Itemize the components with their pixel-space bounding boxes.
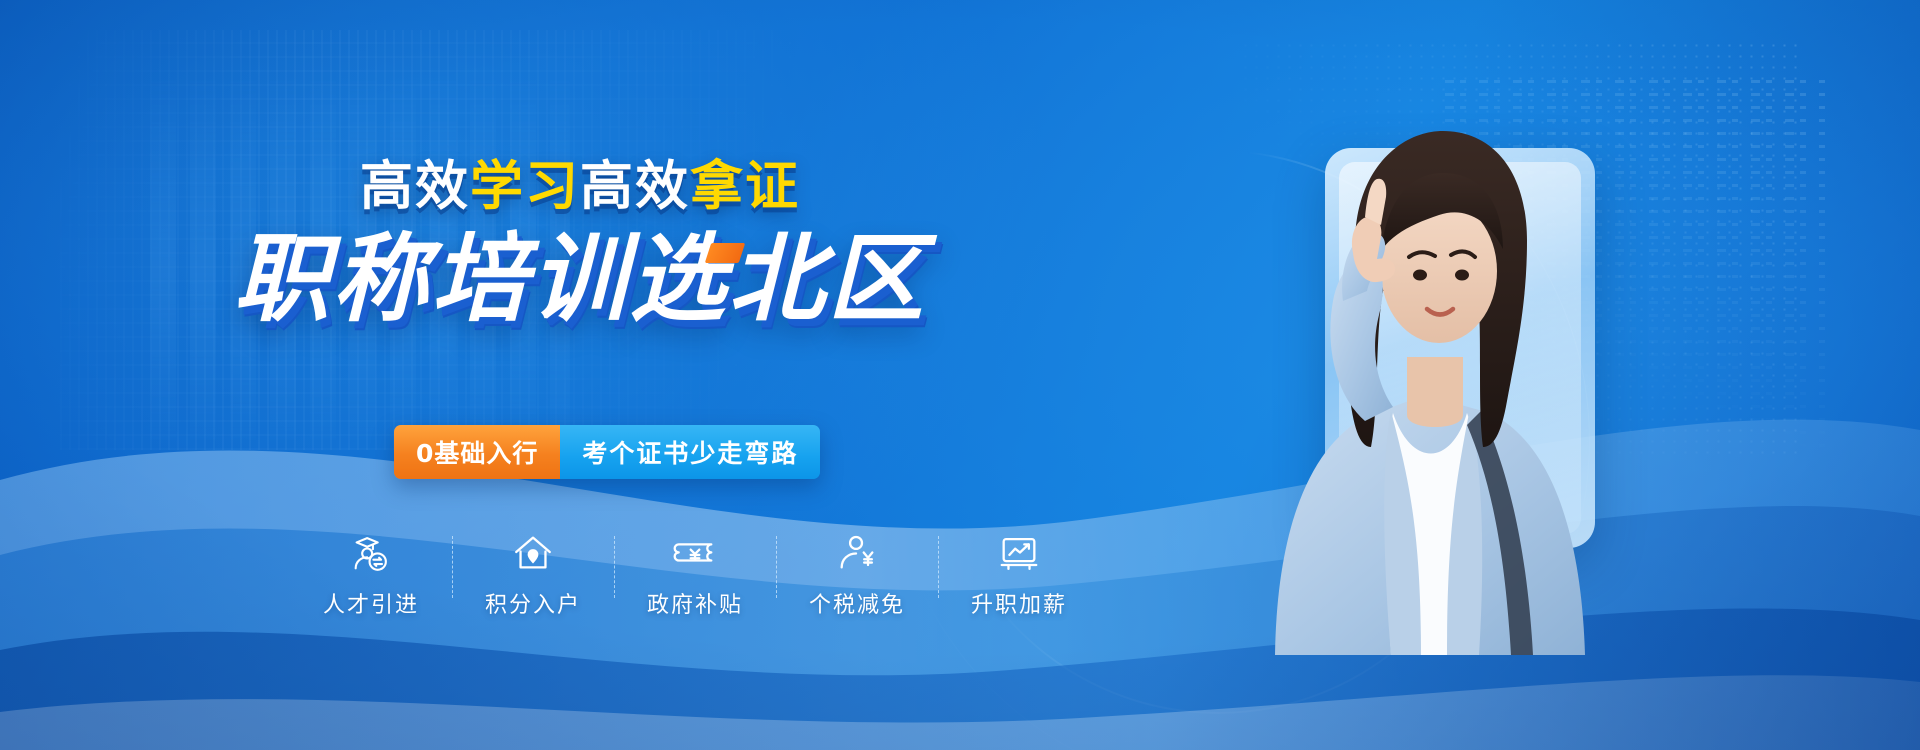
badge-right-label: 考个证书少走弯路 (560, 425, 820, 479)
presenter-photo (1215, 95, 1645, 655)
headline-top-seg-2: 学习 (470, 156, 580, 217)
feature-item-promotion-raise[interactable]: 升职加薪 (938, 530, 1100, 619)
headline-top-seg-1: 高效 (360, 156, 470, 217)
feature-item-government-subsidy[interactable]: 政府补贴 (614, 530, 776, 619)
person-yuan-icon (834, 530, 880, 576)
graduate-person-icon (348, 530, 394, 576)
feature-item-points-residency[interactable]: 积分入户 (452, 530, 614, 619)
feature-label: 人才引进 (323, 587, 419, 619)
tagline-badge: 0基础入行 考个证书少走弯路 (394, 425, 820, 479)
headline-main: 职称培训选北区 (0, 231, 1160, 329)
feature-item-talent-intro[interactable]: 人才引进 (290, 530, 452, 619)
headline-block: 高效学习高效拿证 职称培训选北区 (0, 160, 1160, 329)
headline-top: 高效学习高效拿证 (0, 160, 1160, 213)
house-pin-icon (510, 530, 556, 576)
feature-item-tax-reduction[interactable]: 个税减免 (776, 530, 938, 619)
feature-label: 个税减免 (809, 587, 905, 619)
headline-top-seg-3: 高效 (580, 156, 690, 217)
headline-main-text: 职称培训选北区 (234, 223, 927, 335)
badge-left-label: 0基础入行 (394, 425, 560, 479)
chart-board-icon (996, 530, 1042, 576)
ticket-yuan-icon (672, 530, 718, 576)
promo-banner: 高效学习高效拿证 职称培训选北区 0基础入行 考个证书少走弯路 (0, 0, 1920, 750)
feature-label: 政府补贴 (647, 587, 743, 619)
feature-list: 人才引进 积分入户 政府补贴 (290, 530, 1100, 619)
orange-slash-ornament-icon (705, 243, 745, 263)
feature-label: 升职加薪 (971, 587, 1067, 619)
headline-top-seg-4: 拿证 (690, 156, 800, 217)
feature-label: 积分入户 (485, 587, 581, 619)
